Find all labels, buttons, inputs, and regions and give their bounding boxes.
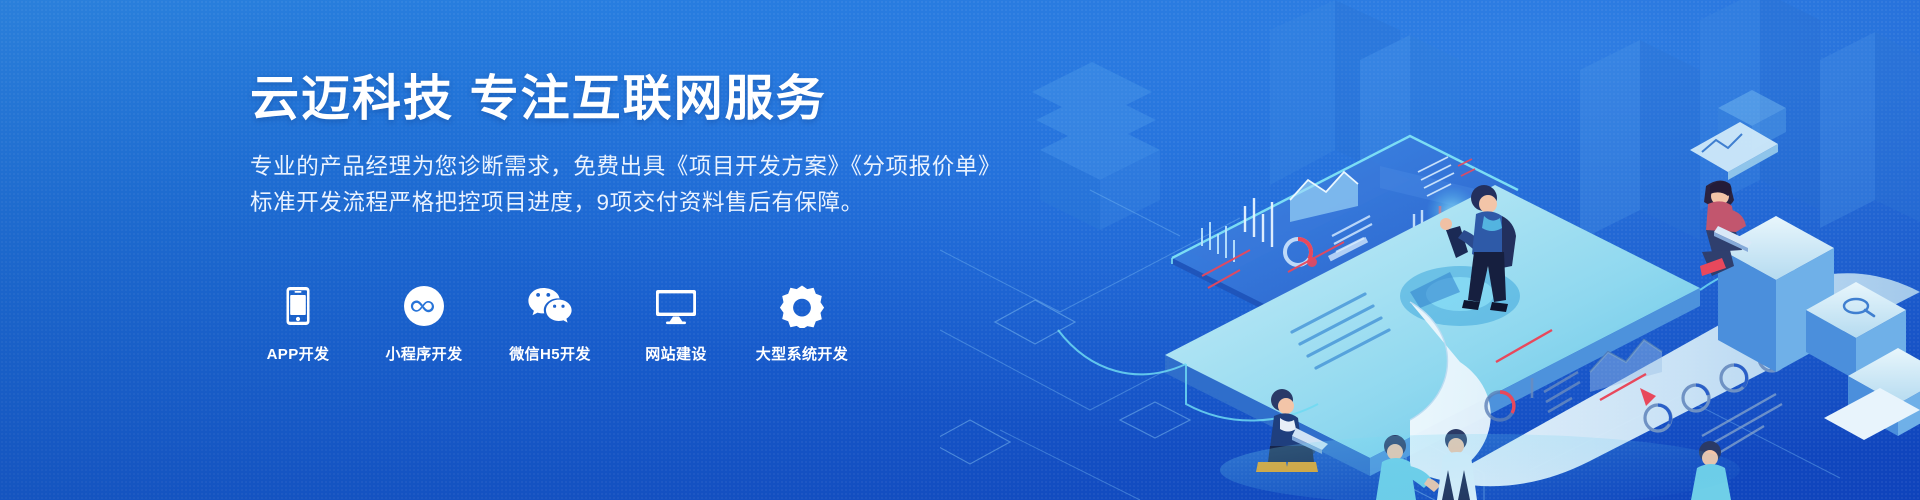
subtitle-line-1: 专业的产品经理为您诊断需求，免费出具《项目开发方案》《分项报价单》 xyxy=(250,149,1010,185)
wechat-icon xyxy=(527,283,573,329)
page-title: 云迈科技 专注互联网服务 xyxy=(250,70,1010,129)
service-label: 网站建设 xyxy=(645,343,707,364)
service-item-app[interactable]: APP开发 xyxy=(250,283,346,364)
service-item-website[interactable]: 网站建设 xyxy=(628,283,724,364)
service-label: APP开发 xyxy=(267,343,330,364)
mini-program-icon xyxy=(401,283,447,329)
gear-icon xyxy=(779,283,825,329)
service-label: 大型系统开发 xyxy=(756,343,848,364)
service-label: 微信H5开发 xyxy=(509,343,591,364)
subtitle-line-2: 标准开发流程严格把控项目进度，9项交付资料售后有保障。 xyxy=(250,185,1010,221)
monitor-icon xyxy=(653,283,699,329)
hero-subtitle: 专业的产品经理为您诊断需求，免费出具《项目开发方案》《分项报价单》 标准开发流程… xyxy=(250,149,1010,222)
hero-copy: 云迈科技 专注互联网服务 专业的产品经理为您诊断需求，免费出具《项目开发方案》《… xyxy=(250,70,1010,222)
service-item-large-system[interactable]: 大型系统开发 xyxy=(754,283,850,364)
service-list: APP开发 小程序开发 微信H5开发 xyxy=(250,283,850,364)
isometric-illustration xyxy=(940,0,1920,500)
mobile-phone-icon xyxy=(275,283,321,329)
service-label: 小程序开发 xyxy=(385,343,462,364)
hero-banner: 云迈科技 专注互联网服务 专业的产品经理为您诊断需求，免费出具《项目开发方案》《… xyxy=(0,0,1920,500)
service-item-wechat-h5[interactable]: 微信H5开发 xyxy=(502,283,598,364)
service-item-miniprogram[interactable]: 小程序开发 xyxy=(376,283,472,364)
